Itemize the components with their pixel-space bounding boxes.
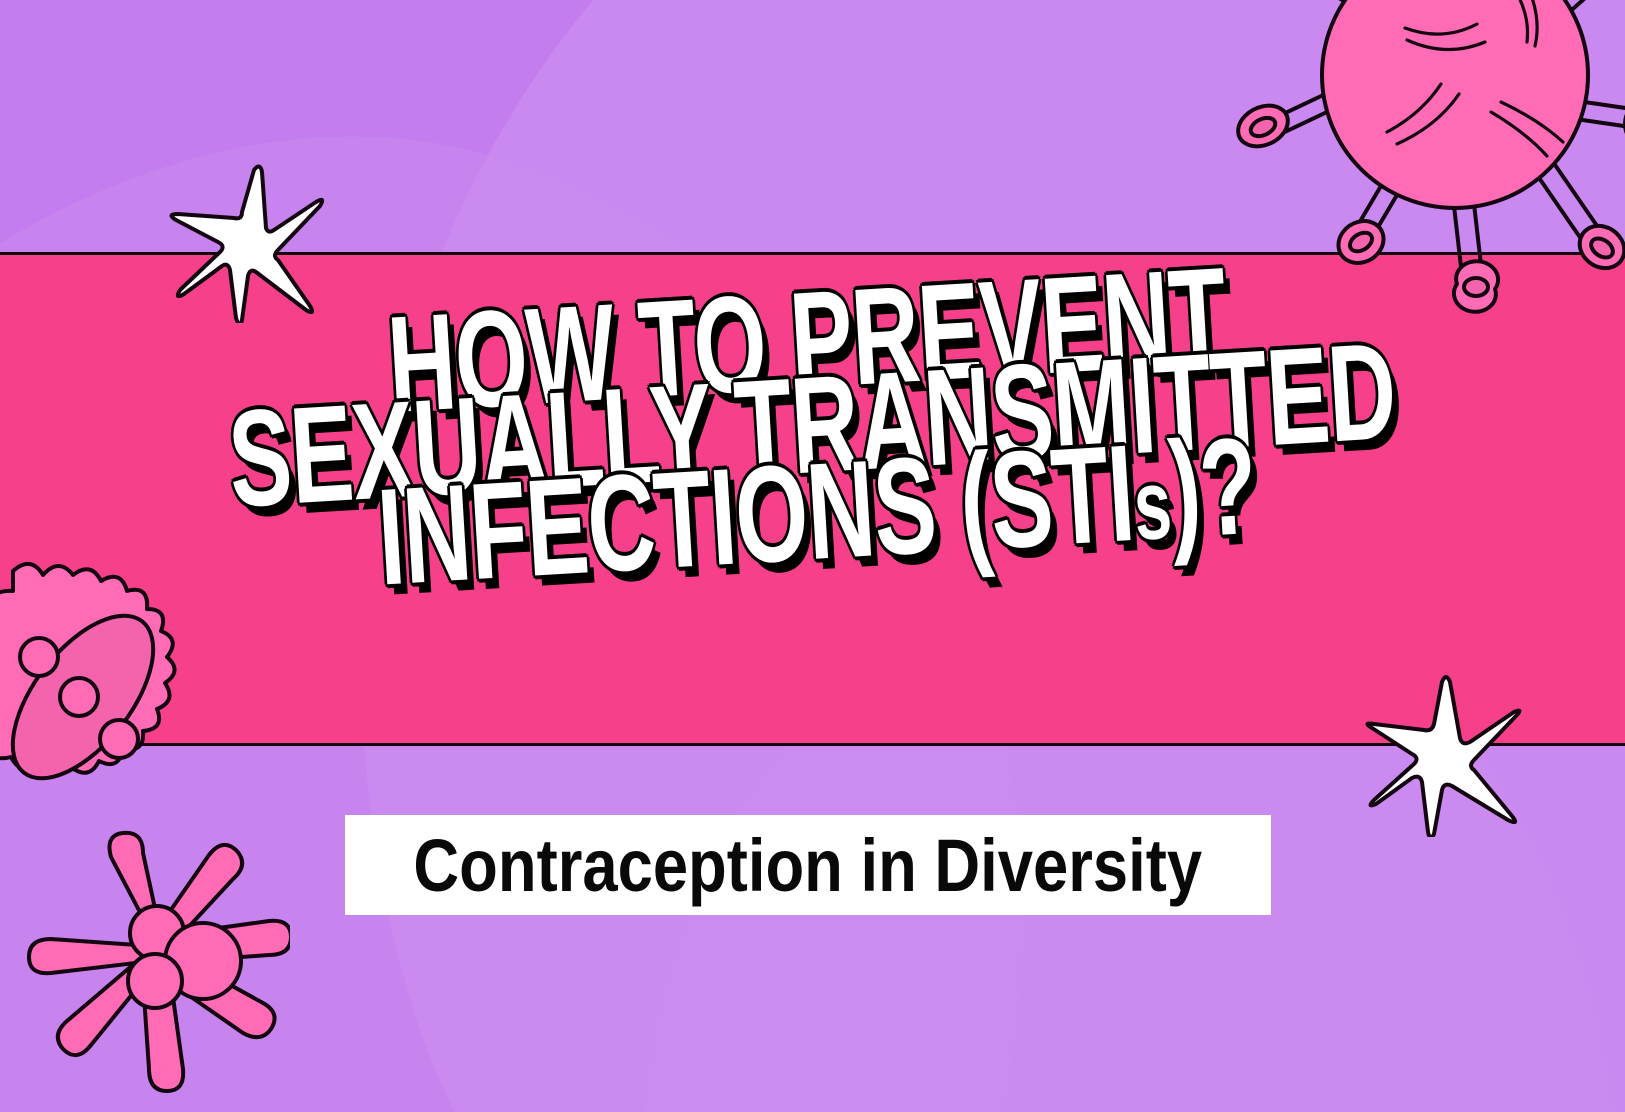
subtitle-banner: Contraception in Diversity: [345, 815, 1271, 915]
poster-canvas: HOW TO PREVENT SEXUALLY TRANSMITTED INFE…: [0, 0, 1625, 1112]
headline-band: [0, 252, 1625, 746]
subtitle-text: Contraception in Diversity: [414, 822, 1203, 907]
